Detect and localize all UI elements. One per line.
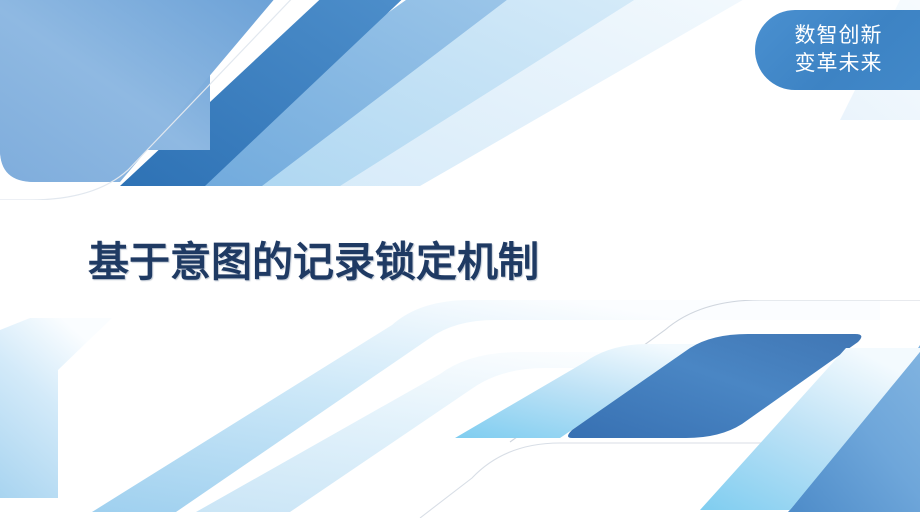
bottom-decoration-group (0, 300, 920, 518)
slogan-line-1: 数智创新 (795, 22, 883, 50)
slogan-line-2: 变革未来 (795, 50, 883, 78)
page-title: 基于意图的记录锁定机制 (88, 228, 539, 288)
slide-canvas: 数智创新 变革未来 基于意图的记录锁定机制 (0, 0, 920, 518)
slogan-badge: 数智创新 变革未来 (755, 10, 920, 90)
decor-bottom-left-stripe-a (0, 318, 112, 498)
